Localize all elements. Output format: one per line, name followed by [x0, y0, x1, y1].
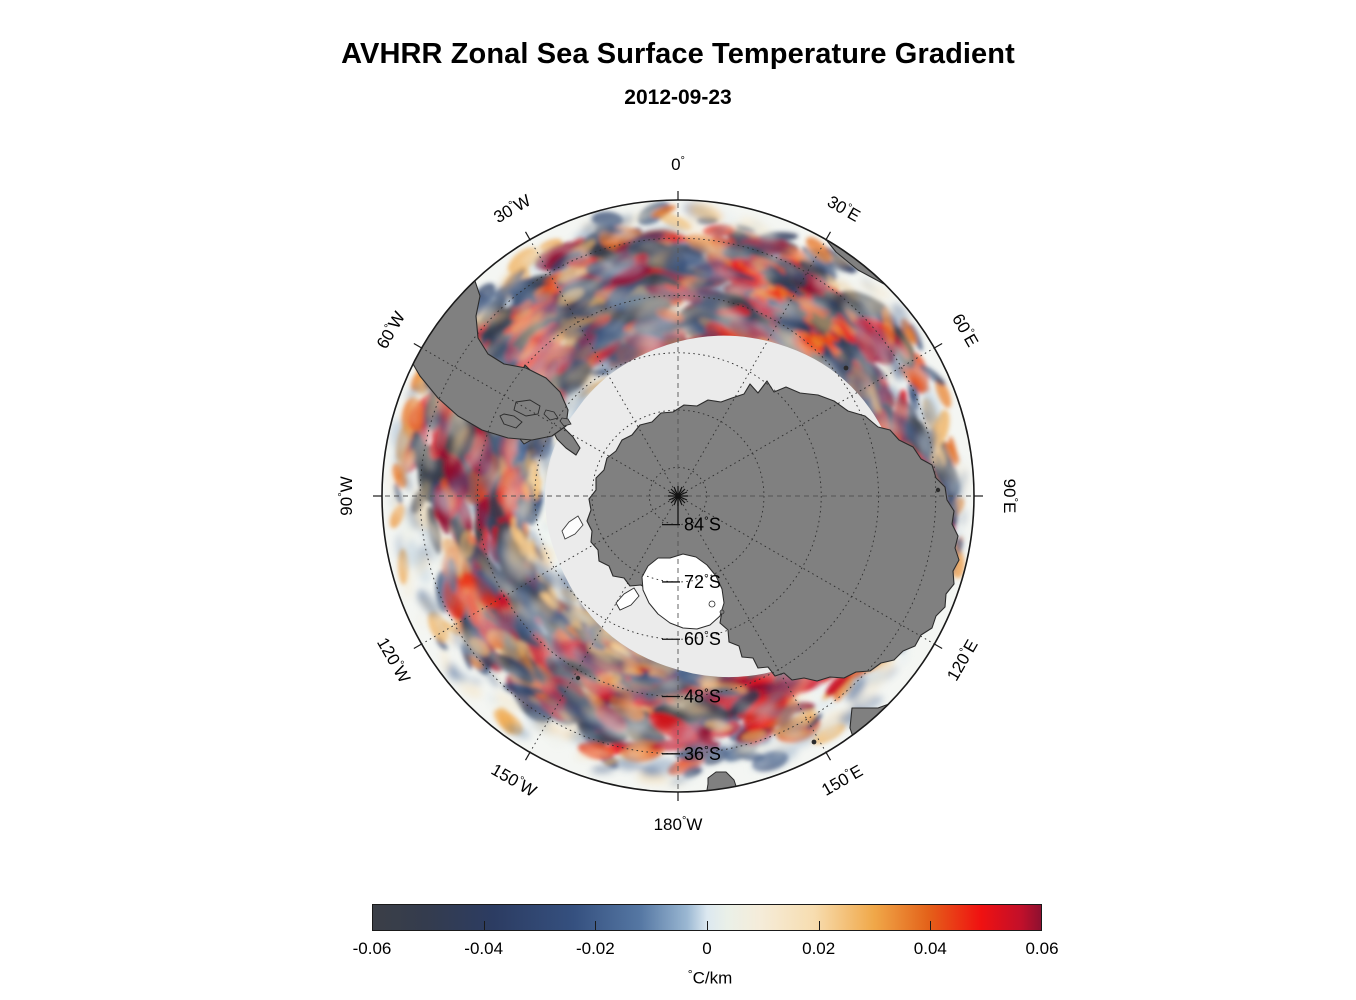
longitude-label: 90°W	[337, 476, 357, 515]
colorbar[interactable]: -0.06-0.04-0.0200.020.040.06 °C/km	[330, 895, 1090, 995]
longitude-tick-mark	[526, 232, 531, 240]
longitude-label: 60°E	[948, 310, 982, 350]
figure-canvas: AVHRR Zonal Sea Surface Temperature Grad…	[0, 0, 1356, 1000]
longitude-label: 150°W	[488, 760, 540, 801]
longitude-label: 90°E	[1000, 479, 1020, 514]
longitude-label: 30°W	[490, 191, 534, 228]
longitude-label: 60°W	[373, 308, 410, 352]
colorbar-tick-label: 0	[662, 939, 752, 959]
longitude-tick-mark	[826, 232, 831, 240]
longitude-label: 150°E	[818, 761, 866, 800]
colorbar-tick-label: -0.04	[439, 939, 529, 959]
page-subtitle: 2012-09-23	[0, 86, 1356, 110]
colorbar-tick-mark	[707, 921, 708, 930]
colorbar-tick-mark	[819, 921, 820, 930]
colorbar-tick-label: -0.02	[550, 939, 640, 959]
longitude-label: 180°W	[654, 815, 703, 835]
latitude-label: 48°S	[684, 686, 721, 707]
colorbar-unit-label: °C/km	[330, 967, 1090, 989]
latitude-label: 60°S	[684, 628, 721, 649]
longitude-tick-mark	[934, 644, 942, 649]
colorbar-tick-mark	[930, 921, 931, 930]
longitude-tick-mark	[414, 344, 422, 349]
page-title: AVHRR Zonal Sea Surface Temperature Grad…	[0, 38, 1356, 71]
latitude-label: 72°S	[684, 571, 721, 592]
colorbar-tick-mark	[484, 921, 485, 930]
colorbar-tick-mark	[595, 921, 596, 930]
longitude-label: 120°E	[943, 636, 982, 684]
polar-map-svg[interactable]: 84°S72°S60°S48°S36°S 0°30°E60°E90°E120°E…	[278, 118, 1078, 878]
colorbar-tick-label: 0.02	[774, 939, 864, 959]
latitude-label: 84°S	[684, 514, 721, 535]
longitude-label: 30°E	[824, 192, 864, 226]
colorbar-tick-label: -0.06	[327, 939, 417, 959]
longitude-tick-mark	[526, 752, 531, 760]
colorbar-tick-label: 0.06	[997, 939, 1087, 959]
longitude-label: 0°	[671, 155, 685, 175]
longitude-tick-mark	[826, 752, 831, 760]
longitude-label: 120°W	[373, 634, 414, 686]
latitude-label: 36°S	[684, 743, 721, 764]
polar-map[interactable]: 84°S72°S60°S48°S36°S 0°30°E60°E90°E120°E…	[278, 118, 1078, 878]
colorbar-tick-label: 0.04	[885, 939, 975, 959]
longitude-tick-mark	[414, 644, 422, 649]
longitude-tick-mark	[934, 344, 942, 349]
